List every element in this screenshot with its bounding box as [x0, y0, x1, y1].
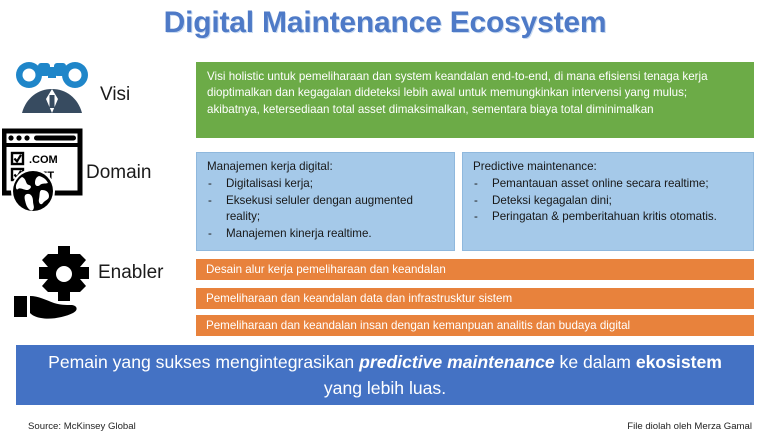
row-label-visi: Visi [100, 84, 130, 106]
list-item: - Deteksi kegagalan dini; [471, 193, 745, 210]
vision-statement-box: Visi holistic untuk pemeliharaan dan sys… [196, 62, 754, 138]
vision-text: Visi holistic untuk pemeliharaan dan sys… [207, 70, 708, 116]
browser-globe-domain-icon: .COM .NET [2, 128, 88, 216]
list-item: - Eksekusi seluler dengan augmented real… [205, 193, 446, 227]
bullet-marker: - [474, 176, 478, 193]
list-item-text: Deteksi kegagalan dini; [492, 194, 612, 207]
binoculars-businessman-icon [8, 58, 96, 120]
domain-box-bullet-list: - Pemantauan asset online secara realtim… [471, 176, 745, 226]
bullet-marker: - [208, 193, 212, 210]
enabler-bar: Pemeliharaan dan keandalan data dan infr… [196, 288, 754, 309]
domain-box-bullet-list: - Digitalisasi kerja; - Eksekusi seluler… [205, 176, 446, 243]
domain-icon-tld1: .COM [29, 154, 58, 166]
banner-emphasis-predictive-maintenance: predictive maintenance [359, 352, 555, 372]
list-item: - Digitalisasi kerja; [205, 176, 446, 193]
list-item-text: Manajemen kinerja realtime. [226, 227, 372, 240]
banner-part3: yang lebih luas. [324, 378, 446, 398]
bullet-marker: - [208, 226, 212, 243]
list-item-text: Eksekusi seluler dengan augmented realit… [226, 194, 413, 224]
bullet-marker: - [474, 193, 478, 210]
domain-box-heading: Predictive maintenance: [473, 159, 745, 176]
list-item-text: Digitalisasi kerja; [226, 177, 313, 190]
banner-part2: ke dalam [555, 352, 636, 372]
page-title: Digital Maintenance Ecosystem [0, 6, 770, 40]
list-item-text: Pemantauan asset online secara realtime; [492, 177, 709, 190]
gear-in-hand-icon [12, 244, 96, 322]
bullet-marker: - [474, 209, 478, 226]
domain-box-heading: Manajemen kerja digital: [207, 159, 446, 176]
bullet-marker: - [208, 176, 212, 193]
banner-part1: Pemain yang sukses mengintegrasikan [48, 352, 359, 372]
row-label-domain: Domain [86, 162, 151, 184]
slide-canvas: Digital Maintenance Ecosystem Visi Visi … [0, 0, 770, 441]
list-item-text: Peringatan & pemberitahuan kritis otomat… [492, 210, 717, 223]
list-item: - Pemantauan asset online secara realtim… [471, 176, 745, 193]
list-item: - Peringatan & pemberitahuan kritis otom… [471, 209, 745, 226]
summary-banner: Pemain yang sukses mengintegrasikan pred… [16, 345, 754, 405]
row-label-enabler: Enabler [98, 262, 164, 284]
domain-box-predictive-maintenance: Predictive maintenance: - Pemantauan ass… [462, 152, 754, 251]
enabler-bar: Pemeliharaan dan keandalan insan dengan … [196, 315, 754, 336]
domain-box-digital-work-management: Manajemen kerja digital: - Digitalisasi … [196, 152, 455, 251]
enabler-bar: Desain alur kerja pemeliharaan dan keand… [196, 259, 754, 280]
banner-emphasis-ekosistem: ekosistem [636, 352, 722, 372]
footer-source: Source: McKinsey Global [28, 421, 136, 432]
list-item: - Manajemen kinerja realtime. [205, 226, 446, 243]
summary-banner-text: Pemain yang sukses mengintegrasikan pred… [46, 349, 724, 401]
footer-credit: File diolah oleh Merza Gamal [627, 421, 752, 432]
